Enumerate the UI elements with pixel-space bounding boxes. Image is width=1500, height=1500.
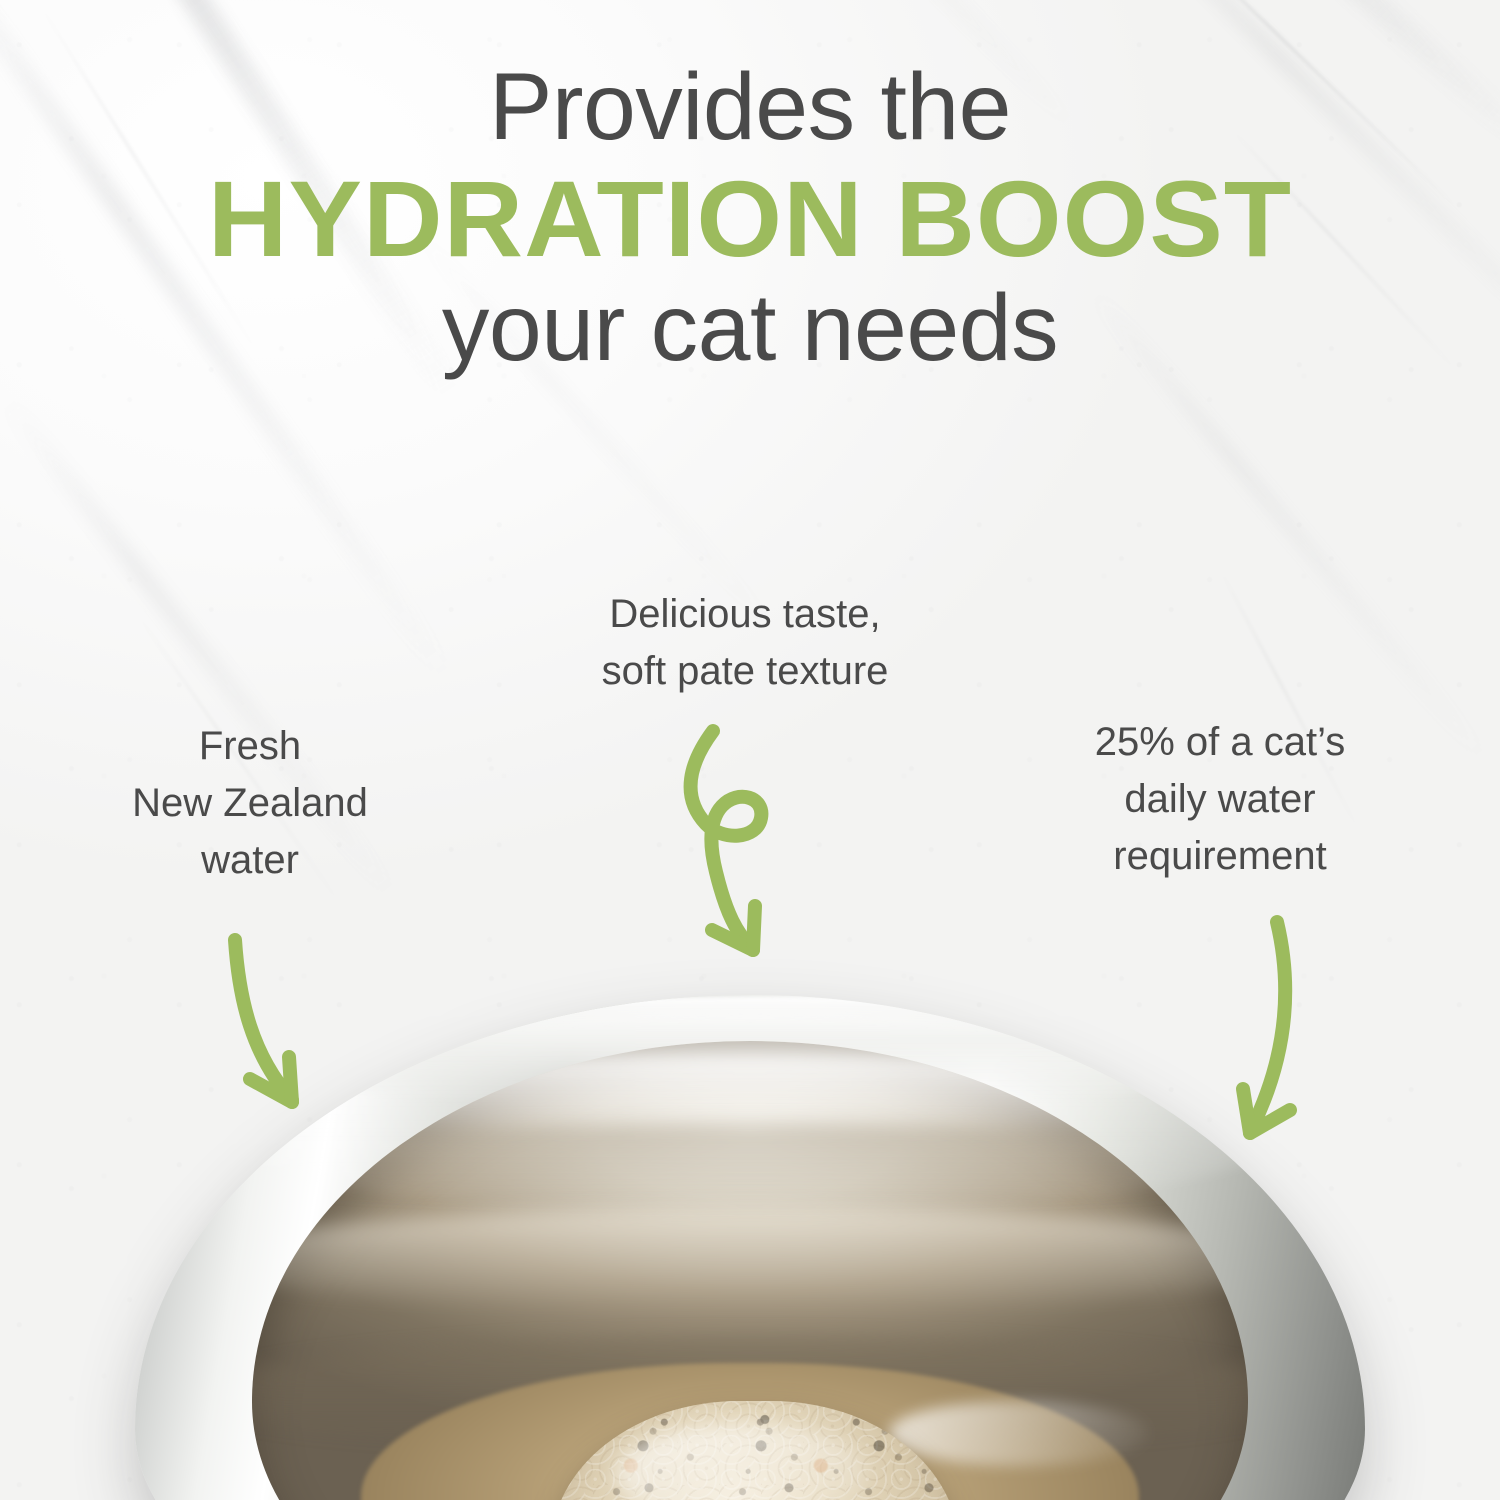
headline-block: Provides the HYDRATION BOOST your cat ne…: [0, 58, 1500, 378]
bowl-rim-highlight: [160, 995, 1341, 1107]
headline-line-1: Provides the: [0, 58, 1500, 157]
callout-right-text: 25% of a cat’s daily water requirement: [1040, 714, 1400, 884]
callout-center-text: Delicious taste, soft pate texture: [520, 586, 970, 700]
headline-line-2-highlight: HYDRATION BOOST: [0, 161, 1500, 278]
cat-food-pate: [551, 1401, 959, 1500]
headline-line-3: your cat needs: [0, 279, 1500, 378]
bowl-interior: [252, 1041, 1248, 1500]
callout-left-text: Fresh New Zealand water: [55, 718, 445, 888]
bowl-body: [135, 995, 1365, 1500]
infographic-canvas: Provides the HYDRATION BOOST your cat ne…: [0, 0, 1500, 1500]
product-photo-bowl: [135, 995, 1365, 1500]
bowl-reflection-band: [252, 1124, 1248, 1201]
bowl-reflection-band: [252, 1208, 1248, 1311]
bowl-reflection-band: [252, 1053, 1248, 1137]
